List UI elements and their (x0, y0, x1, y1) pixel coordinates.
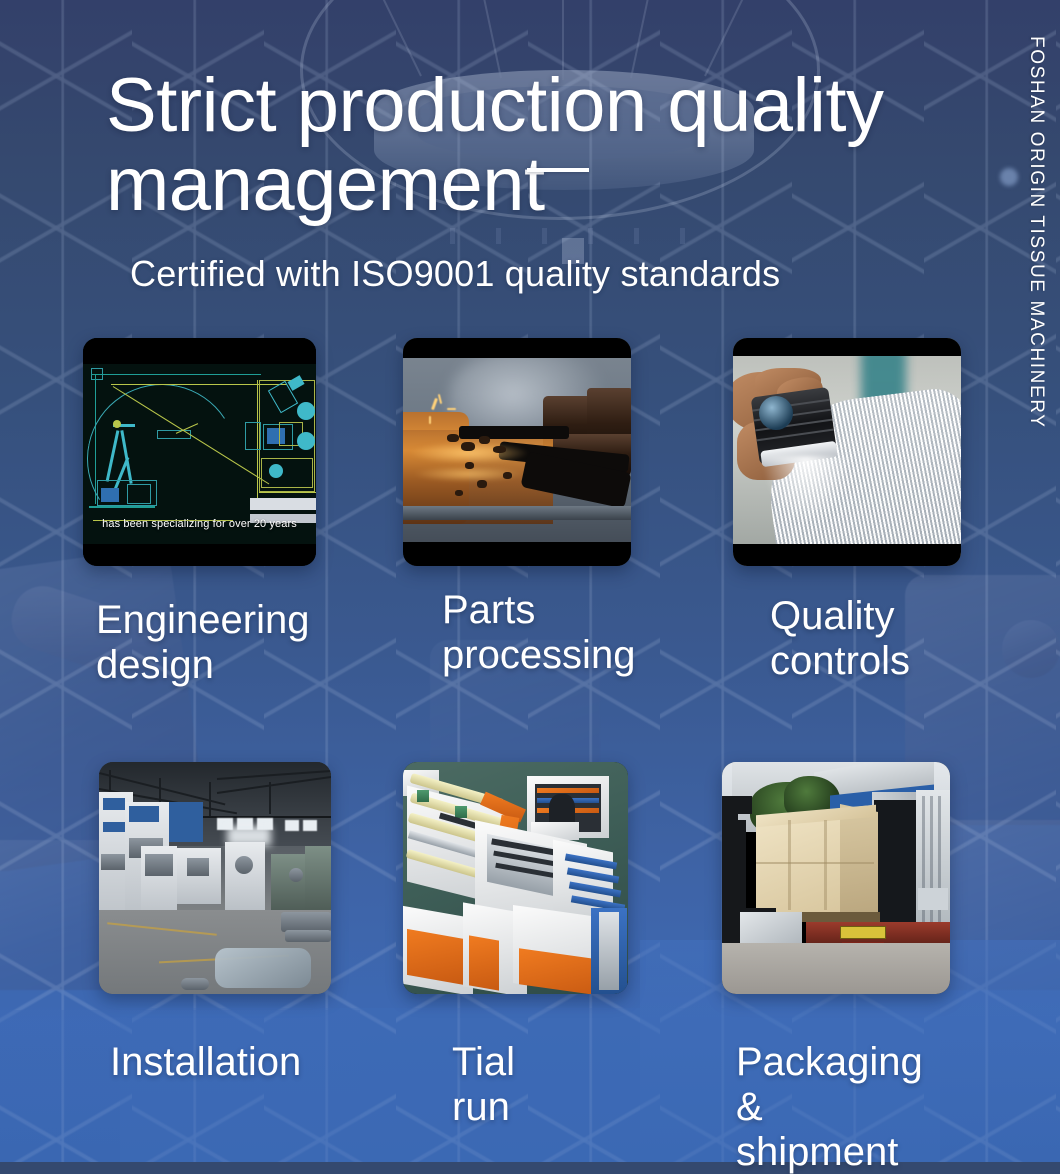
card-label-quality-controls: Quality controls (770, 594, 910, 684)
thumbnail-tissue-inspection-loupe-photo[interactable] (733, 338, 961, 566)
card-label-packaging-shipment: Packaging & shipment (736, 1040, 923, 1174)
thumbnail-crate-container-loading-photo[interactable] (722, 762, 950, 994)
thumbnail-cad-engineering-drawing-screenshot[interactable]: has been specializing for over 20 years (83, 338, 316, 566)
card-label-parts-processing: Parts processing (442, 588, 635, 678)
process-card-grid: has been specializing for over 20 years … (0, 0, 1060, 1162)
card-label-installation: Installation (110, 1040, 301, 1085)
card-label-trial-run: Tial run (452, 1040, 515, 1130)
thumbnail-tissue-machine-trial-run-photo[interactable] (403, 762, 628, 994)
thumbnail-cnc-lathe-machining-photo[interactable] (403, 338, 631, 566)
thumbnail-overlay-caption: has been specializing for over 20 years (83, 518, 316, 530)
card-label-engineering-design: Engineering design (96, 598, 310, 688)
thumbnail-factory-workshop-interior-photo[interactable] (99, 762, 331, 994)
